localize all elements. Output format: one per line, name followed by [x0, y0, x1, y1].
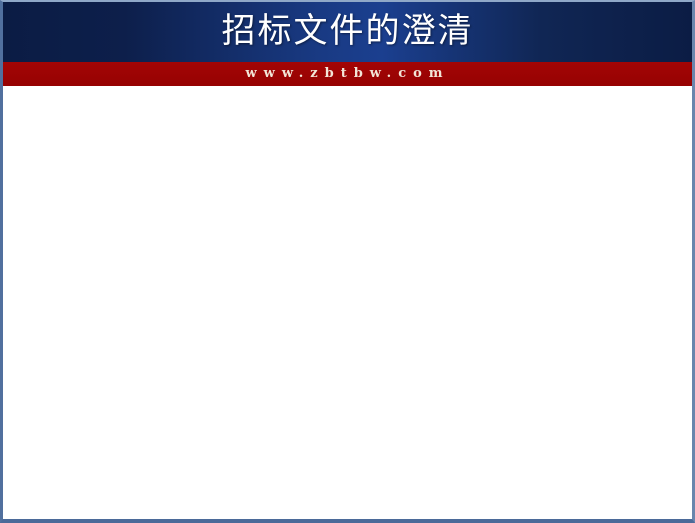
website-url-text: www.zbtbw.com [0, 64, 695, 84]
slide-content-area [3, 86, 692, 519]
website-url-band: www.zbtbw.com [0, 62, 695, 86]
presentation-slide: 招标文件的澄清 www.zbtbw.com 招标人主动对招标文件的澄清1根据投标… [0, 0, 695, 523]
slide-header-band: 招标文件的澄清 [0, 2, 695, 62]
page-title: 招标文件的澄清 [0, 8, 695, 54]
